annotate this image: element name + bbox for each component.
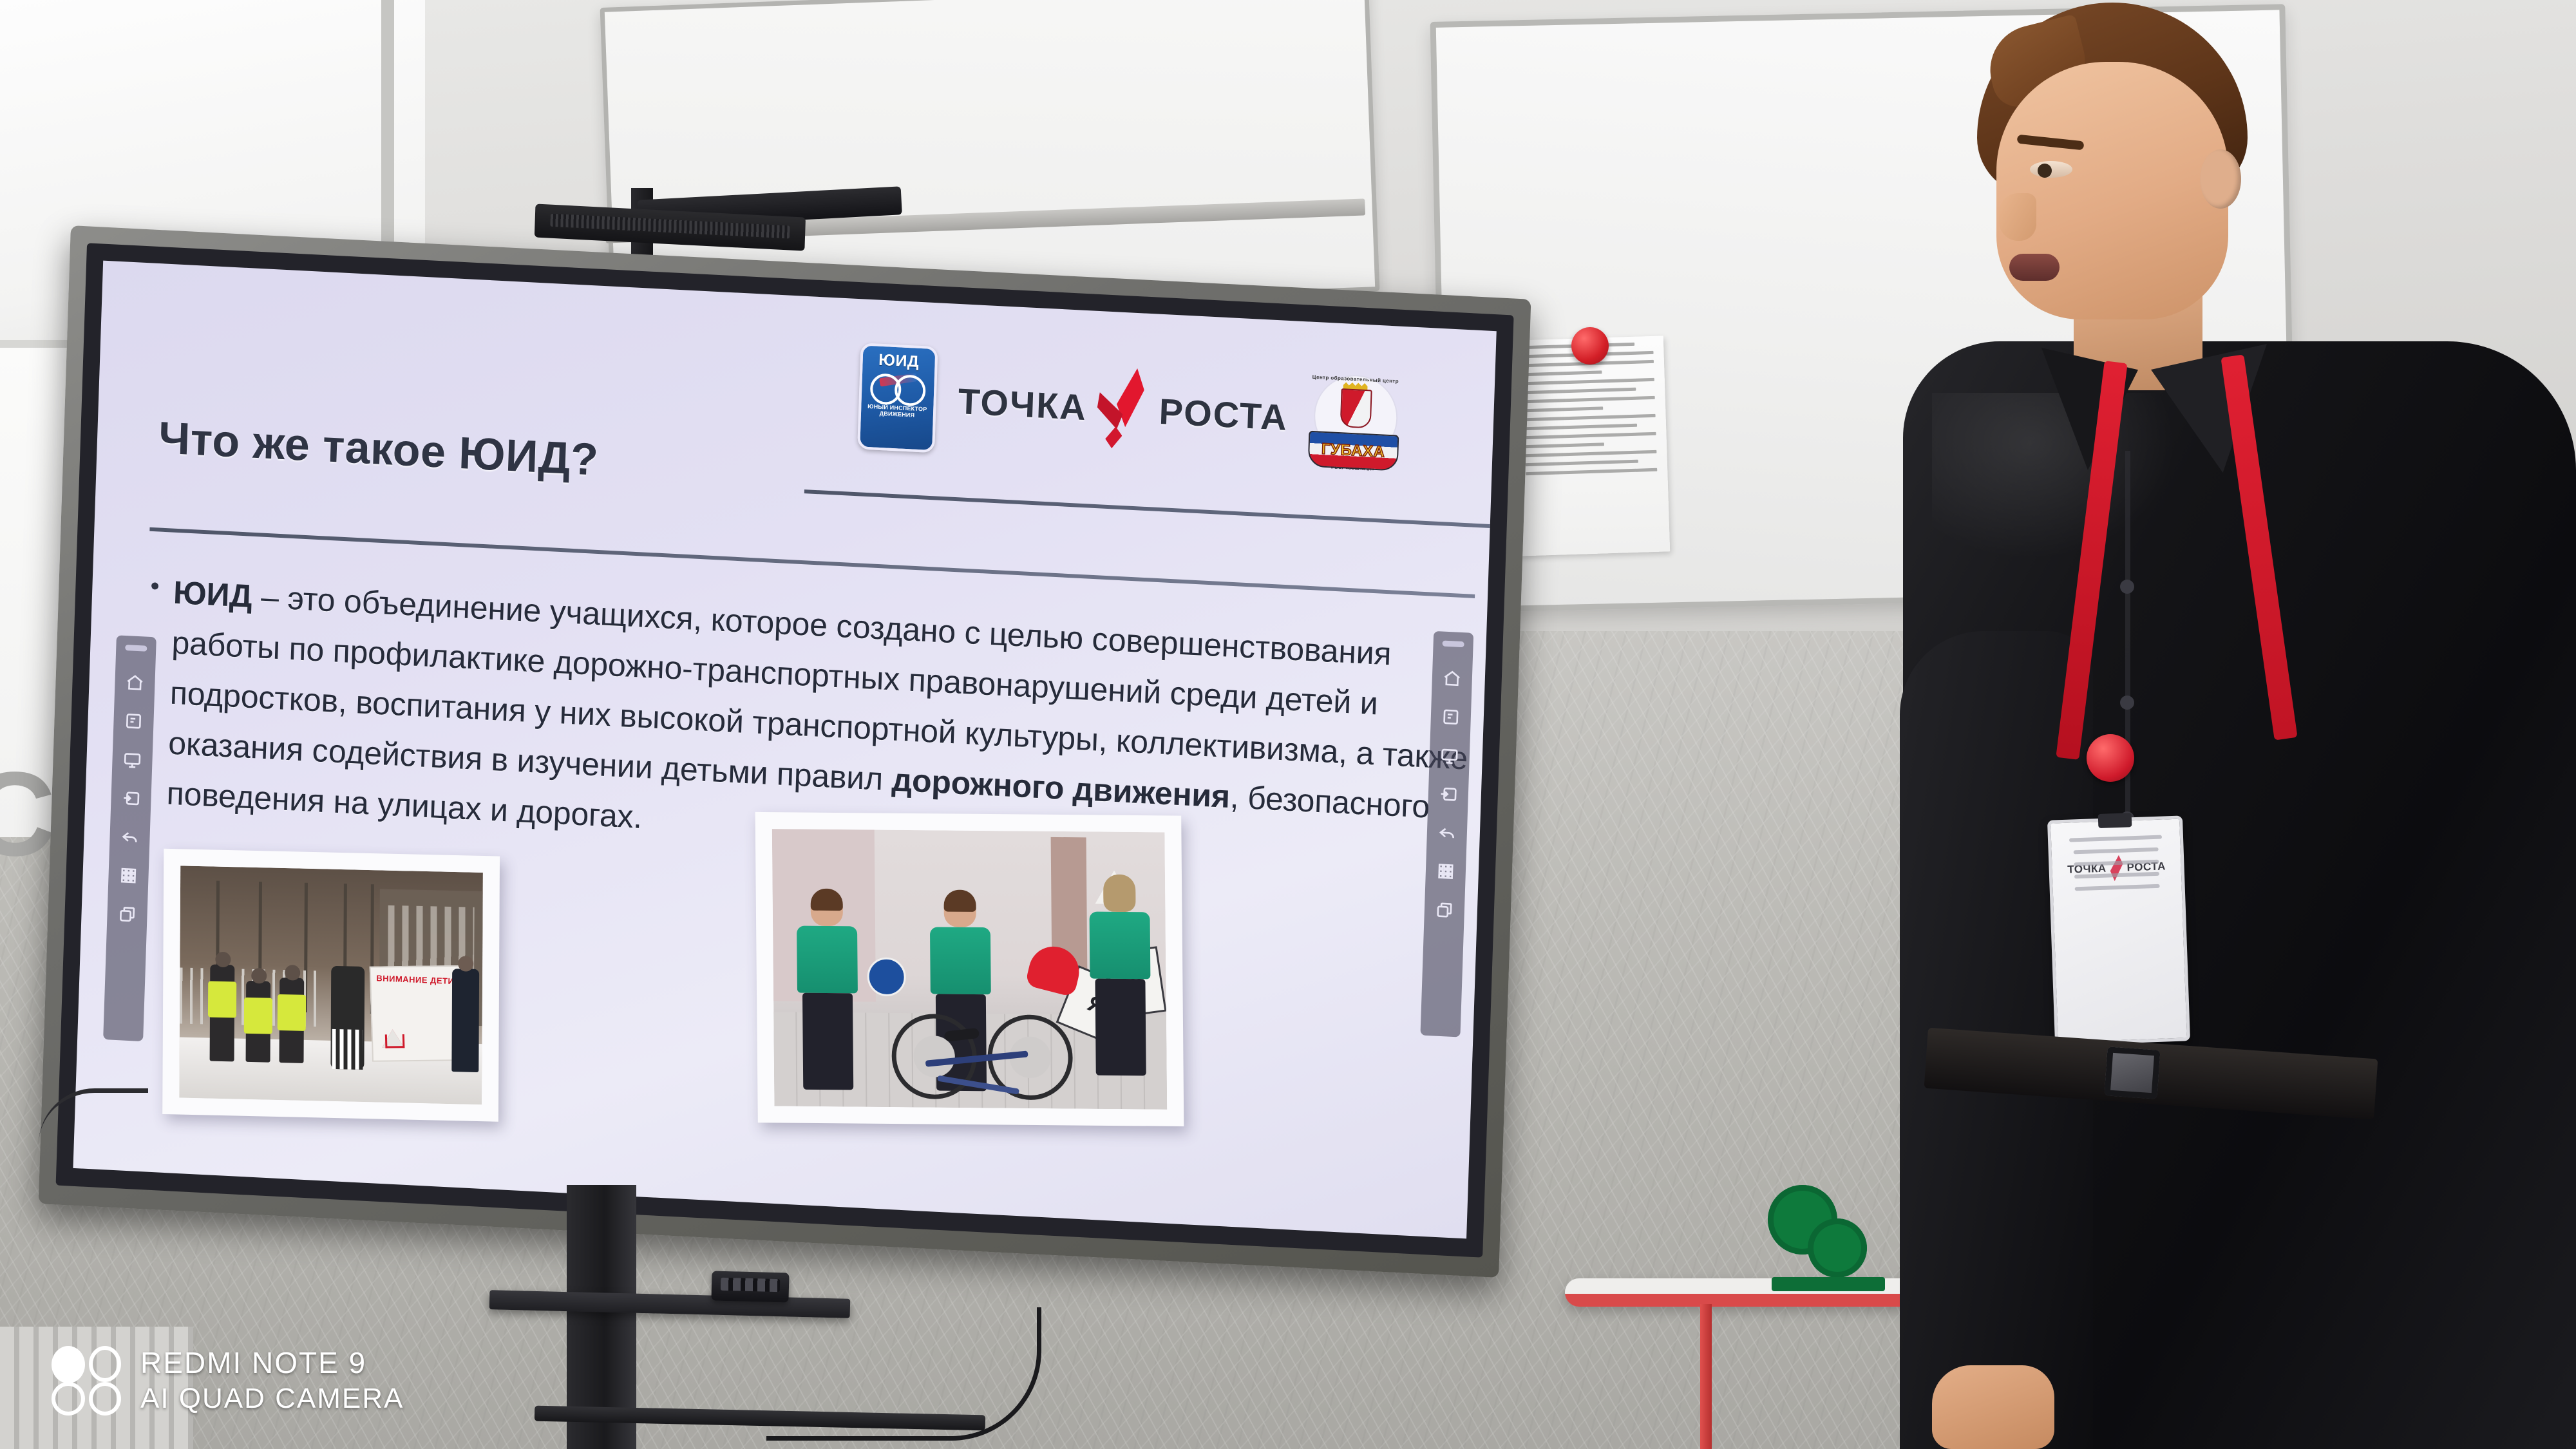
banner-caption: ВНИМАНИЕ ДЕТИ!: [376, 973, 457, 987]
watermark-text: REDMI NOTE 9 AI QUAD CAMERA: [140, 1345, 404, 1417]
apps-grid-icon[interactable]: [1434, 860, 1457, 883]
presenter-face: [1996, 62, 2228, 319]
coat-of-arms-icon: [1340, 388, 1372, 428]
note-icon[interactable]: [122, 710, 145, 733]
tochka-word: ТОЧКА: [958, 380, 1088, 428]
belt-buckle: [2104, 1046, 2160, 1099]
back-icon[interactable]: [1435, 821, 1458, 844]
toolbar-drag-handle[interactable]: [125, 645, 147, 652]
windows-icon[interactable]: [116, 903, 138, 926]
shoulder-highlight: [1932, 393, 2177, 560]
watermark-line1: REDMI NOTE 9: [140, 1345, 404, 1381]
rosta-word: РОСТА: [1159, 390, 1289, 438]
shirt-button: [2120, 580, 2134, 594]
slide-photo-bicycle-training: Я Д: [755, 812, 1184, 1126]
photo-scene: СТА ЮИД ЮНЫЙ ИНСПЕКТОР ДВИЖЕНИЯ: [0, 0, 2576, 1449]
quad-camera-icon: [52, 1346, 121, 1416]
pinned-document: [1511, 336, 1670, 556]
input-source-icon[interactable]: [120, 787, 142, 810]
watermark-line2: AI QUAD CAMERA: [140, 1381, 404, 1417]
presenter: ТОЧКА РОСТА: [1739, 0, 2576, 1449]
slide-title: Что же такое ЮИД?: [158, 412, 600, 486]
attention-children-banner: ВНИМАНИЕ ДЕТИ!: [370, 965, 466, 1062]
presenter-ear: [2200, 149, 2241, 209]
bicycle: [891, 982, 1073, 1100]
input-source-icon[interactable]: [1437, 782, 1459, 806]
yuid-logo-title: ЮИД: [878, 350, 920, 371]
slide-photo-winter-road: ВНИМАНИЕ ДЕТИ!: [162, 849, 500, 1122]
badge-line: [2069, 835, 2162, 842]
windows-icon[interactable]: [1433, 898, 1455, 922]
gubakha-banner: ГУБАХА: [1307, 431, 1399, 471]
side-table-leg: [1700, 1304, 1712, 1449]
lanyard-clip: [2087, 734, 2134, 782]
yuid-logo: ЮИД ЮНЫЙ ИНСПЕКТОР ДВИЖЕНИЯ: [857, 343, 938, 453]
toolbar-drag-handle[interactable]: [1443, 640, 1464, 647]
panel-screen[interactable]: ЮИД ЮНЫЙ ИНСПЕКТОР ДВИЖЕНИЯ ТОЧКА РОСТА …: [73, 261, 1496, 1239]
gubakha-logo: Центр образовательный центр ГУБАХА МБОУ …: [1308, 370, 1400, 471]
power-cable: [766, 1307, 1041, 1441]
presenter-hand: [1932, 1365, 2054, 1449]
red-magnet: [1571, 327, 1609, 365]
tochka-rosta-logo: ТОЧКА РОСТА: [957, 359, 1289, 459]
camera-watermark: REDMI NOTE 9 AI QUAD CAMERA: [52, 1345, 404, 1417]
gubakha-name: ГУБАХА: [1321, 440, 1385, 462]
whiteboard-icon[interactable]: [1438, 744, 1461, 767]
interactive-flat-panel[interactable]: ЮИД ЮНЫЙ ИНСПЕКТОР ДВИЖЕНИЯ ТОЧКА РОСТА …: [39, 225, 1531, 1278]
shirt-button: [2120, 696, 2134, 710]
presenter-nose: [1999, 193, 2036, 241]
presenter-badge: ТОЧКА РОСТА: [2047, 815, 2190, 1045]
yuid-logo-subtitle: ЮНЫЙ ИНСПЕКТОР ДВИЖЕНИЯ: [861, 402, 934, 419]
display-remote-control[interactable]: [711, 1271, 789, 1302]
presenter-pupil: [2038, 164, 2052, 178]
back-icon[interactable]: [118, 826, 141, 849]
apps-grid-icon[interactable]: [117, 864, 140, 887]
whiteboard-icon[interactable]: [121, 748, 144, 772]
note-icon[interactable]: [1439, 705, 1462, 728]
presenter-mouth: [2009, 254, 2060, 281]
home-icon[interactable]: [1441, 667, 1463, 690]
title-rule-top: [804, 489, 1497, 530]
panel-toolbar-left[interactable]: [103, 635, 156, 1041]
slide-logo-row: ЮИД ЮНЫЙ ИНСПЕКТОР ДВИЖЕНИЯ ТОЧКА РОСТА …: [857, 334, 1497, 491]
badge-slot: [2098, 813, 2132, 828]
yuid-bicycle-icon: [870, 372, 926, 402]
tochka-rosta-chevron-icon: [1096, 366, 1150, 451]
zebra-mascot: [330, 965, 365, 1069]
home-icon[interactable]: [124, 671, 146, 694]
